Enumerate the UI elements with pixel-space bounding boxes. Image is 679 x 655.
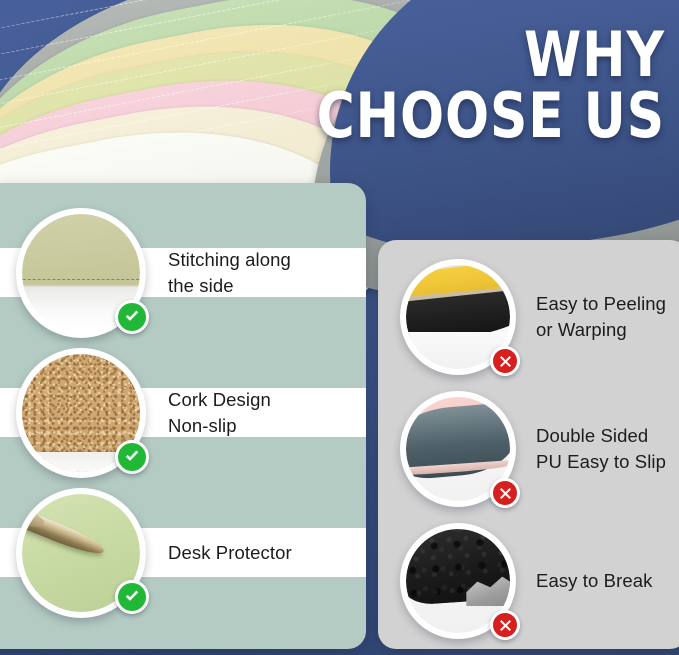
pros-row-3-label: Desk Protector — [168, 540, 292, 566]
cracked-surface-thumbnail — [400, 523, 516, 639]
disadvantages-panel: Easy to Peeling or Warping — [378, 240, 679, 649]
page-title: WHY CHOOSE US — [293, 24, 665, 147]
pros-row-2-label: Cork Design Non-slip — [168, 387, 271, 438]
cons-row-2: Double Sided PU Easy to Slip — [400, 390, 670, 508]
cons-row-3-label: Easy to Break — [536, 568, 652, 594]
cons-row-1-label: Easy to Peeling or Warping — [536, 291, 666, 342]
cons-row-1: Easy to Peeling or Warping — [400, 258, 670, 376]
pen-on-mat-thumbnail — [16, 488, 146, 618]
check-icon — [115, 440, 149, 474]
pros-row-3: Desk Protector — [16, 489, 346, 617]
advantages-panel: Stitching along the side Cork Desig — [0, 183, 366, 649]
pros-row-2: Cork Design Non-slip — [16, 349, 346, 477]
cross-icon — [490, 610, 520, 640]
cons-row-3: Easy to Break — [400, 522, 670, 640]
pros-row-1-label: Stitching along the side — [168, 247, 291, 298]
cross-icon — [490, 478, 520, 508]
cons-row-2-label: Double Sided PU Easy to Slip — [536, 423, 666, 474]
stitched-edge-thumbnail — [16, 208, 146, 338]
check-icon — [115, 300, 149, 334]
double-sided-pu-thumbnail — [400, 391, 516, 507]
headline-line-2: CHOOSE US — [293, 85, 665, 146]
cork-backing-thumbnail — [16, 348, 146, 478]
cross-icon — [490, 346, 520, 376]
pros-row-1: Stitching along the side — [16, 209, 346, 337]
promo-graphic: WHY CHOOSE US — [0, 0, 679, 655]
peeling-layers-thumbnail — [400, 259, 516, 375]
check-icon — [115, 580, 149, 614]
